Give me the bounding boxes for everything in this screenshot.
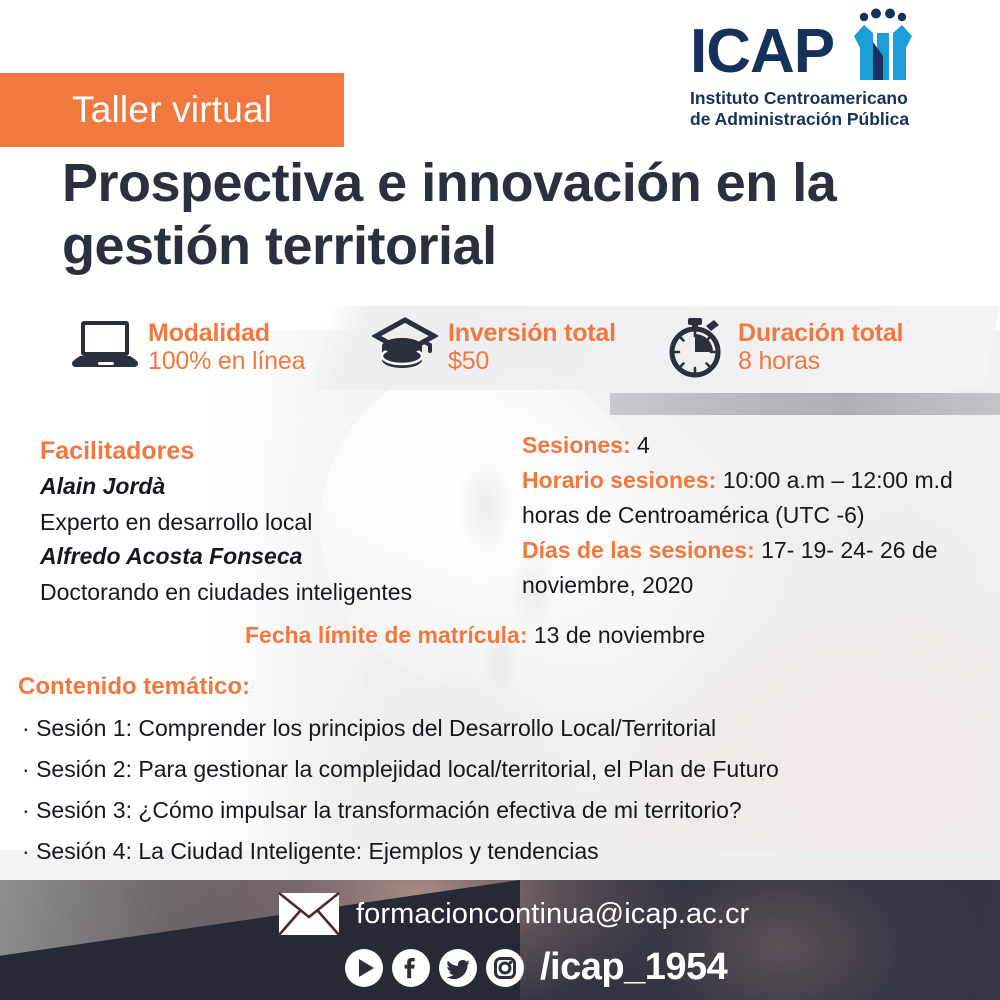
sessions-count-label: Sesiones: — [522, 432, 631, 458]
envelope-icon[interactable] — [278, 892, 340, 936]
facilitator-role-1: Experto en desarrollo local — [40, 509, 510, 536]
deadline-value: 13 de noviembre — [534, 622, 705, 648]
sessions-schedule-label: Horario sesiones: — [522, 467, 716, 493]
people-raising-arms-icon — [840, 8, 926, 82]
sessions-count-value: 4 — [637, 432, 650, 458]
sessions-days-label: Días de las sesiones: — [522, 537, 755, 563]
deadline-label: Fecha límite de matrícula: — [245, 622, 527, 648]
thematic-content-block: Contenido temático: Sesión 1: Comprender… — [18, 673, 968, 865]
social-row: /icap_1954 — [344, 946, 727, 989]
stat-modalidad: Modalidad 100% en línea — [72, 316, 372, 378]
footer: formacioncontinua@icap.ac.cr — [0, 880, 1000, 1000]
facilitator-role-2: Doctorando en ciudades inteligentes — [40, 579, 510, 606]
youtube-icon[interactable] — [344, 948, 384, 988]
content-heading: Contenido temático: — [18, 673, 968, 701]
logo-subtitle: Instituto Centroamericano de Administrac… — [690, 88, 950, 131]
contact-email-text[interactable]: formacioncontinua@icap.ac.cr — [356, 898, 749, 931]
content-item: Sesión 3: ¿Cómo impulsar la transformaci… — [18, 797, 968, 824]
stopwatch-icon — [662, 316, 728, 378]
stat-inversion-value: $50 — [448, 347, 616, 375]
logo-subtitle-line-1: Instituto Centroamericano — [690, 88, 950, 109]
facilitators-heading: Facilitadores — [40, 437, 510, 466]
contact-email-row[interactable]: formacioncontinua@icap.ac.cr — [278, 892, 749, 936]
logo-wordmark: ICAP — [690, 23, 834, 82]
stat-duracion-text: Duración total 8 horas — [738, 319, 903, 375]
stat-inversion-text: Inversión total $50 — [448, 319, 616, 375]
stat-modalidad-text: Modalidad 100% en línea — [148, 319, 305, 375]
workshop-type-badge: Taller virtual — [0, 73, 344, 147]
stat-modalidad-value: 100% en línea — [148, 347, 305, 375]
poster: ICAP Instituto Centroamericano de Admini… — [0, 0, 1000, 1000]
sessions-schedule-line: Horario sesiones: 10:00 a.m – 12:00 m.d … — [522, 463, 987, 533]
stat-duracion-value: 8 horas — [738, 347, 903, 375]
page-title: Prospectiva e innovación en la gestión t… — [62, 152, 942, 277]
logo-wordmark-row: ICAP — [690, 8, 950, 82]
enrollment-deadline: Fecha límite de matrícula: 13 de noviemb… — [245, 622, 705, 649]
facilitator-name-2: Alfredo Acosta Fonseca — [40, 543, 510, 570]
facilitator-name-1: Alain Jordà — [40, 473, 510, 500]
content-item: Sesión 4: La Ciudad Inteligente: Ejemplo… — [18, 838, 968, 865]
stat-inversion-title: Inversión total — [448, 319, 616, 347]
sessions-days-line: Días de las sesiones: 17- 19- 24- 26 de … — [522, 533, 987, 603]
content-item: Sesión 1: Comprender los principios del … — [18, 715, 968, 742]
stat-modalidad-title: Modalidad — [148, 319, 305, 347]
stat-inversion: Inversión total $50 — [372, 316, 662, 378]
sessions-count-line: Sesiones: 4 — [522, 428, 987, 463]
grey-accent-bar — [610, 393, 1000, 415]
laptop-icon — [72, 316, 138, 378]
instagram-icon[interactable] — [485, 948, 525, 988]
workshop-type-label: Taller virtual — [72, 89, 272, 131]
logo-subtitle-line-2: de Administración Pública — [690, 109, 950, 130]
icap-logo: ICAP Instituto Centroamericano de Admini… — [690, 8, 950, 131]
stats-row: Modalidad 100% en línea Inversión total … — [72, 302, 972, 392]
stat-duracion-title: Duración total — [738, 319, 903, 347]
social-handle[interactable]: /icap_1954 — [540, 946, 727, 989]
facilitators-block: Facilitadores Alain Jordà Experto en des… — [40, 437, 510, 606]
content-item: Sesión 2: Para gestionar la complejidad … — [18, 756, 968, 783]
graduation-cap-coins-icon — [372, 316, 438, 378]
twitter-icon[interactable] — [438, 948, 478, 988]
session-details-block: Sesiones: 4 Horario sesiones: 10:00 a.m … — [522, 428, 987, 603]
facebook-icon[interactable] — [391, 948, 431, 988]
stat-duracion: Duración total 8 horas — [662, 316, 962, 378]
